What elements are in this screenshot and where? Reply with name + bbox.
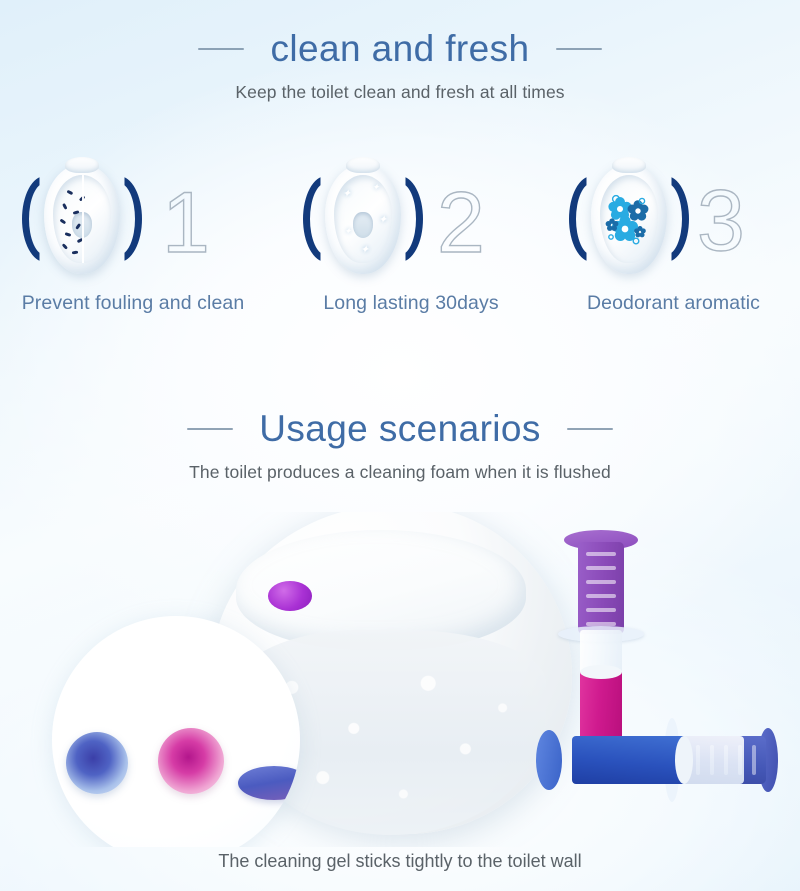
plunger-rod [578, 542, 624, 634]
flat-gel-disc [238, 766, 300, 800]
germ-cluster-icon [53, 175, 82, 263]
product-marketing-page: clean and fresh Keep the toilet clean an… [0, 0, 800, 891]
purple-gel-stamp-photo [268, 568, 312, 608]
bowl-body [44, 164, 120, 274]
feature-item-long-lasting: ✦ ✦ ✦ ✦ ✦ 2 Long lasting 30days [281, 158, 541, 338]
fragrance-flowers-icon [600, 175, 658, 263]
barrel [572, 736, 744, 784]
usage-scenarios-heading: Usage scenarios The toilet produces a cl… [0, 410, 800, 483]
feature-art: 1 [0, 158, 266, 286]
pink-gel-disc [158, 728, 224, 794]
dash-right-decor [567, 428, 613, 430]
bowl-inner [53, 175, 111, 263]
feature-number-3: 3 [697, 178, 745, 264]
blue-gel-fill [572, 736, 684, 784]
section-subtitle-usage-scenarios: The toilet produces a cleaning foam when… [0, 462, 800, 483]
feature-item-prevent-fouling: 1 Prevent fouling and clean [0, 158, 266, 338]
dash-right-decor [556, 48, 602, 50]
toilet-bowl-split-dirty-clean-icon [28, 160, 136, 278]
split-divider-decor [82, 175, 84, 263]
sparkle-icon: ✦ [342, 189, 351, 200]
blue-gel-disc [66, 732, 128, 794]
toilet-bowl-sparkle-icon: ✦ ✦ ✦ ✦ ✦ [309, 160, 417, 278]
sparkle-icon: ✦ [378, 215, 387, 226]
bowl-body: ✦ ✦ ✦ ✦ ✦ [325, 164, 401, 274]
bowl-drain [353, 212, 373, 238]
feature-number-1: 1 [162, 180, 210, 266]
sparkle-icon: ✦ [344, 227, 352, 236]
heading-row: Usage scenarios [0, 410, 800, 449]
sparkle-icon: ✦ [360, 245, 369, 256]
feature-number-2: 2 [437, 180, 485, 266]
sparkle-icon: ✦ [372, 183, 380, 192]
heading-row: clean and fresh [0, 30, 800, 69]
feature-item-deodorant-aromatic: 3 Deodorant aromatic [547, 158, 800, 338]
bowl-body [591, 164, 667, 274]
blue-gel-dispenser-horizontal [536, 724, 776, 796]
feature-label-prevent-fouling: Prevent fouling and clean [0, 292, 266, 315]
feature-art: ✦ ✦ ✦ ✦ ✦ 2 [281, 158, 541, 286]
dispenser-cap [536, 730, 562, 790]
bowl-rim [65, 157, 99, 173]
feature-label-long-lasting: Long lasting 30days [281, 292, 541, 315]
gel-discs-inset-photo [52, 616, 300, 847]
feature-art: 3 [547, 158, 800, 286]
feature-list: 1 Prevent fouling and clean ✦ ✦ ✦ [0, 158, 800, 338]
clean-and-fresh-heading: clean and fresh Keep the toilet clean an… [0, 30, 800, 103]
section-title-clean-and-fresh: clean and fresh [270, 30, 529, 69]
toilet-bowl-flowers-icon [575, 160, 683, 278]
dash-left-decor [198, 48, 244, 50]
dash-left-decor [187, 428, 233, 430]
section-title-usage-scenarios: Usage scenarios [259, 410, 541, 449]
bowl-rim [612, 157, 646, 173]
section-subtitle-clean-and-fresh: Keep the toilet clean and fresh at all t… [0, 82, 800, 103]
bowl-rim [346, 157, 380, 173]
feature-label-deodorant-aromatic: Deodorant aromatic [547, 292, 800, 315]
usage-photo-caption: The cleaning gel sticks tightly to the t… [0, 851, 800, 872]
usage-photo-composition [0, 512, 800, 847]
bowl-inner [600, 175, 658, 263]
bowl-inner: ✦ ✦ ✦ ✦ ✦ [334, 175, 392, 263]
